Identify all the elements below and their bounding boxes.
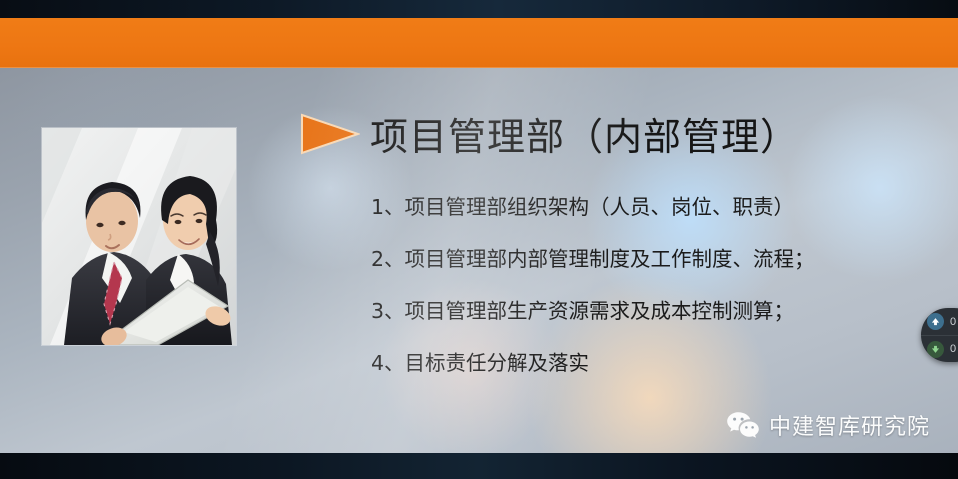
- list-item: 3、项目管理部生产资源需求及成本控制测算；: [371, 298, 815, 324]
- downvote-count: 0: [950, 343, 956, 355]
- list-item: 1、项目管理部组织架构（人员、岗位、职责）: [371, 194, 815, 220]
- bottom-letterbox-bar: [0, 453, 958, 479]
- arrow-up-icon: [927, 313, 944, 330]
- slide-bullet-list: 1、项目管理部组织架构（人员、岗位、职责） 2、项目管理部内部管理制度及工作制度…: [371, 194, 815, 376]
- play-triangle-icon: [300, 113, 360, 155]
- wechat-icon: [726, 411, 760, 439]
- list-item: 2、项目管理部内部管理制度及工作制度、流程；: [371, 246, 815, 272]
- top-letterbox-bar: [0, 0, 958, 18]
- business-people-photo: [42, 128, 236, 345]
- upvote-count: 0: [950, 316, 956, 328]
- watermark-label: 中建智库研究院: [769, 409, 930, 441]
- orange-header-banner: [0, 18, 958, 68]
- list-item: 4、目标责任分解及落实: [371, 350, 815, 376]
- slide-title: 项目管理部（内部管理）: [370, 115, 799, 159]
- presentation-screenshot: 项目管理部（内部管理） 1、项目管理部组织架构（人员、岗位、职责） 2、项目管理…: [0, 0, 958, 479]
- slide-canvas: 项目管理部（内部管理） 1、项目管理部组织架构（人员、岗位、职责） 2、项目管理…: [0, 68, 958, 453]
- watermark: 中建智库研究院: [726, 409, 930, 441]
- arrow-down-icon: [927, 341, 944, 358]
